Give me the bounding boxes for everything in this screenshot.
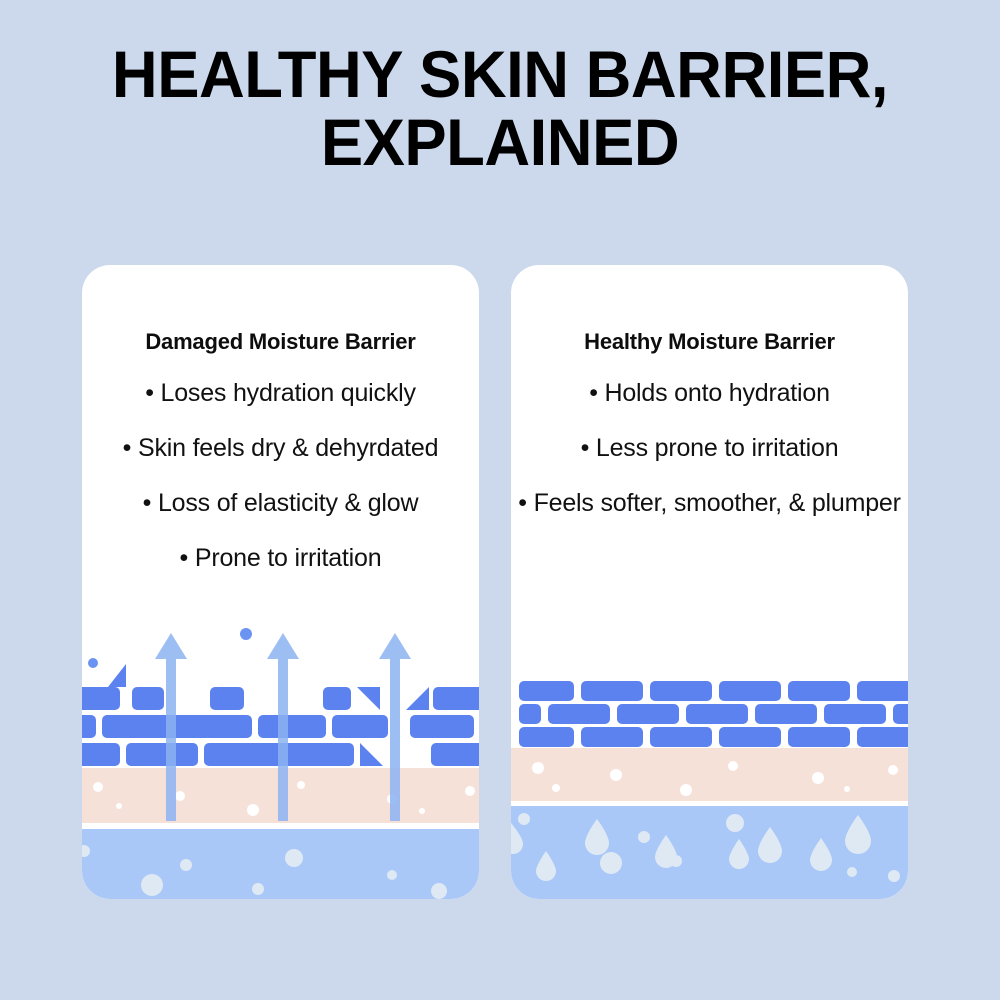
water-layer (82, 829, 479, 899)
list-item-label: Holds onto hydration (605, 379, 830, 407)
list-item-label: Loss of elasticity & glow (158, 489, 418, 517)
list-item: • Loses hydration quickly (82, 377, 479, 409)
bullet-dot-icon: • (143, 489, 152, 517)
healthy-skin-barrier-diagram (511, 623, 908, 899)
list-item-label: Less prone to irritation (596, 434, 839, 462)
list-item: • Loss of elasticity & glow (82, 487, 479, 519)
bullet-dot-icon: • (180, 544, 189, 572)
bullet-list-healthy: • Holds onto hydration • Less prone to i… (511, 377, 908, 542)
list-item: • Feels softer, smoother, & plumper (511, 487, 908, 519)
card-heading-healthy: Healthy Moisture Barrier (511, 329, 908, 355)
list-item-label: Prone to irritation (195, 544, 382, 572)
comparison-cards: Damaged Moisture Barrier • Loses hydrati… (82, 265, 908, 899)
list-item: • Skin feels dry & dehyrdated (82, 432, 479, 464)
list-item-label: Loses hydration quickly (161, 379, 416, 407)
damaged-skin-barrier-diagram (82, 623, 479, 899)
card-healthy-moisture-barrier: Healthy Moisture Barrier • Holds onto hy… (511, 265, 908, 899)
bullet-dot-icon: • (581, 434, 590, 462)
bullet-dot-icon: • (518, 489, 527, 517)
intact-brick-wall (519, 681, 908, 747)
bullet-dot-icon: • (589, 379, 598, 407)
list-item-label: Feels softer, smoother, & plumper (534, 489, 901, 517)
page-title: HEALTHY SKIN BARRIER, EXPLAINED (0, 40, 1000, 176)
bullet-dot-icon: • (145, 379, 154, 407)
list-item: • Holds onto hydration (511, 377, 908, 409)
card-heading-damaged: Damaged Moisture Barrier (82, 329, 479, 355)
bullet-list-damaged: • Loses hydration quickly • Skin feels d… (82, 377, 479, 597)
page-title-line-2: EXPLAINED (20, 108, 980, 176)
list-item-label: Skin feels dry & dehyrdated (138, 434, 438, 462)
card-damaged-moisture-barrier: Damaged Moisture Barrier • Loses hydrati… (82, 265, 479, 899)
page-title-line-1: HEALTHY SKIN BARRIER, (20, 40, 980, 108)
list-item: • Less prone to irritation (511, 432, 908, 464)
bullet-dot-icon: • (123, 434, 132, 462)
dermis-layer (511, 748, 908, 801)
water-layer (511, 806, 908, 899)
list-item: • Prone to irritation (82, 542, 479, 574)
